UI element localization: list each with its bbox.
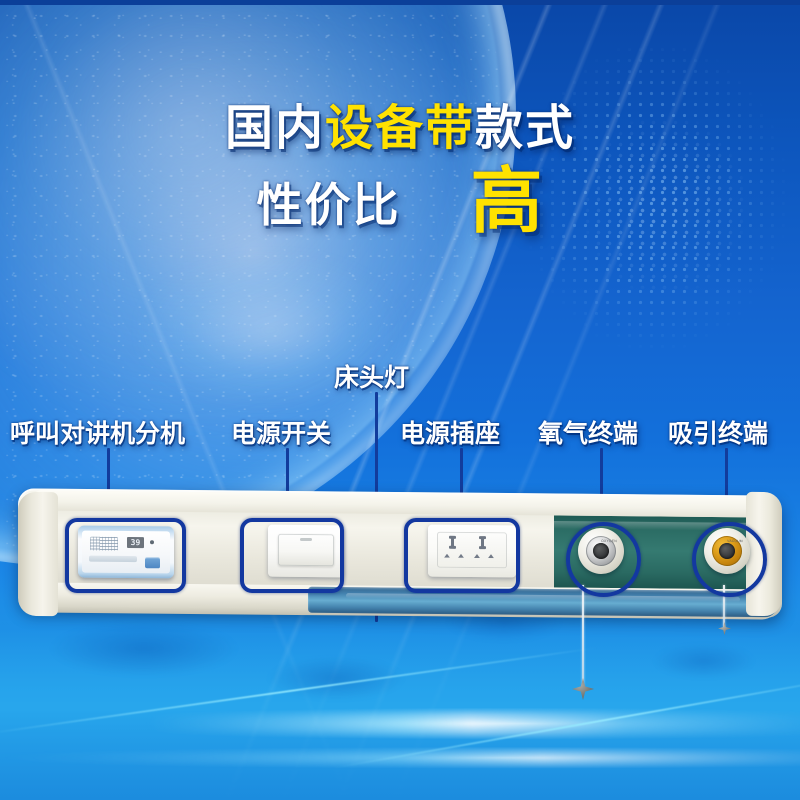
highlight-power-socket: [404, 518, 520, 593]
highlight-oxygen-outlet: [566, 522, 641, 597]
headline-part-2: 设备带: [325, 102, 475, 155]
callout-label-bed-lamp: 床头灯: [334, 358, 409, 394]
callout-label-oxygen-outlet: 氧气终端: [538, 414, 638, 450]
headline-part-3: 款式: [475, 102, 575, 155]
subheadline-text: 性价比: [256, 169, 400, 235]
callout-label-power-switch: 电源开关: [231, 414, 331, 450]
top-edge-bar: [0, 0, 800, 5]
callout-label-intercom: 呼叫对讲机分机: [10, 414, 185, 450]
product-banner: 国内设备带款式 性价比 高 呼叫对讲机分机 电源开关 床头灯 电源插座 氧气终端…: [0, 0, 800, 800]
subheadline-row: 性价比 高: [0, 168, 800, 236]
highlight-suction-outlet: [692, 522, 767, 597]
highlight-intercom: [65, 518, 186, 593]
highlight-power-switch: [240, 518, 344, 593]
headline-part-1: 国内: [225, 102, 325, 155]
callout-label-power-socket: 电源插座: [400, 414, 500, 450]
callout-label-suction-outlet: 吸引终端: [668, 414, 768, 450]
subheadline-emphasis: 高: [470, 168, 543, 236]
oxygen-pull-cord[interactable]: [582, 585, 584, 685]
unit-left-endcap: [18, 492, 58, 616]
unit-blue-rail: [308, 587, 778, 618]
headline: 国内设备带款式: [0, 88, 800, 158]
